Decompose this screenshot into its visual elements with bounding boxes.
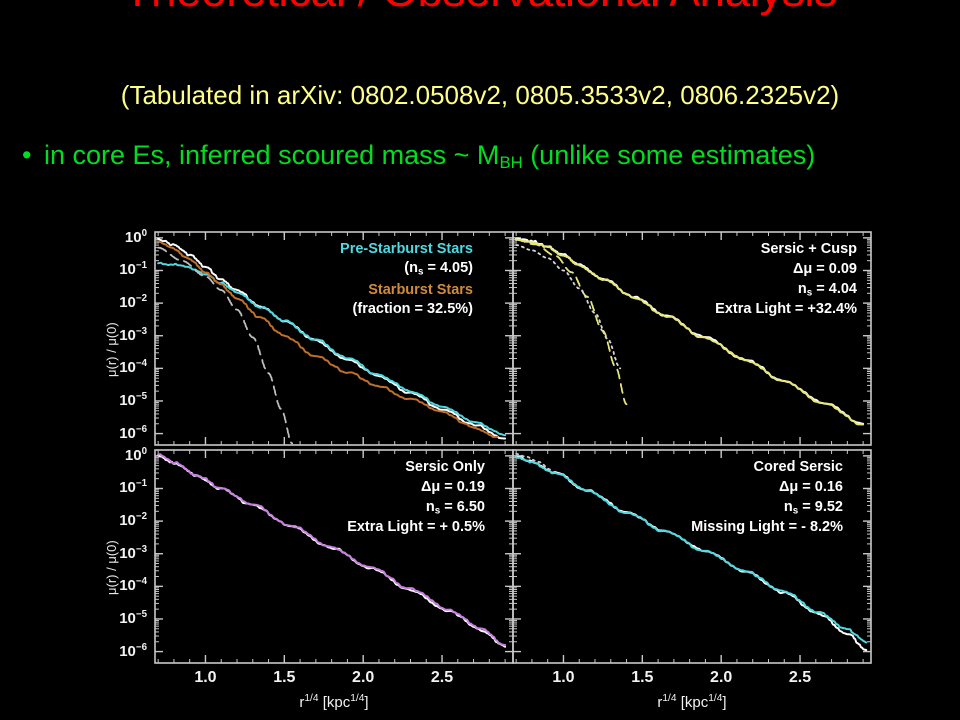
y-tick-label: 10−2 [103,293,147,311]
x-axis-label: r1/4 [kpc1/4] [254,693,414,711]
panel-annotation: Sersic Only [155,458,485,477]
y-tick-label: 10−2 [103,511,147,529]
y-tick-label: 10−6 [103,642,147,660]
x-tick-label: 1.0 [183,669,227,687]
panel-annotation: Missing Light = - 8.2% [513,518,843,537]
y-tick-label: 100 [103,228,147,246]
panel-annotation: Δμ = 0.19 [155,478,485,497]
y-tick-label: 100 [103,446,147,464]
panel-annotation: Pre-Starburst Stars [155,240,473,259]
y-tick-label: 10−6 [103,424,147,442]
bullet-text-subscript: BH [499,153,522,172]
slide-title: Theoretical / Observational Analysis [0,0,960,15]
panel-annotation: Extra Light = +32.4% [513,300,857,319]
y-axis-label: μ(r) / μ(0) [104,322,119,377]
y-tick-label: 10−1 [103,478,147,496]
y-axis-label: μ(r) / μ(0) [104,540,119,595]
panel-annotation: Δμ = 0.09 [513,260,857,279]
panel-annotation: Extra Light = + 0.5% [155,518,485,537]
panel-annotation: Cored Sersic [513,458,843,477]
y-tick-label: 10−5 [103,391,147,409]
x-tick-label: 2.0 [341,669,385,687]
x-axis-label: r1/4 [kpc1/4] [612,693,772,711]
y-tick-label: 10−1 [103,260,147,278]
panel-annotation: Δμ = 0.16 [513,478,843,497]
slide-subtitle-arxiv-refs: (Tabulated in arXiv: 0802.0508v2, 0805.3… [60,80,900,111]
bullet-item: • in core Es, inferred scoured mass ~ MB… [22,138,882,180]
bullet-text-suffix: (unlike some estimates) [523,140,816,170]
x-tick-label: 2.5 [778,669,822,687]
x-tick-label: 1.5 [620,669,664,687]
panel-annotation: Starburst Stars [155,281,473,300]
x-tick-label: 1.5 [262,669,306,687]
figure-panel-grid: 10010−110−210−310−410−510−610010−110−210… [96,222,886,700]
bullet-text: in core Es, inferred scoured mass ~ MBH … [44,138,882,180]
panel-annotation: Sersic + Cusp [513,240,857,259]
x-tick-label: 2.0 [699,669,743,687]
x-tick-label: 2.5 [420,669,464,687]
y-tick-label: 10−5 [103,609,147,627]
bullet-text-prefix: in core Es, inferred scoured mass ~ M [44,140,499,170]
panel-annotation: (fraction = 32.5%) [155,300,473,319]
x-tick-label: 1.0 [541,669,585,687]
panel-annotation: (ns = 4.05) [155,259,473,281]
bullet-marker-icon: • [22,138,44,172]
